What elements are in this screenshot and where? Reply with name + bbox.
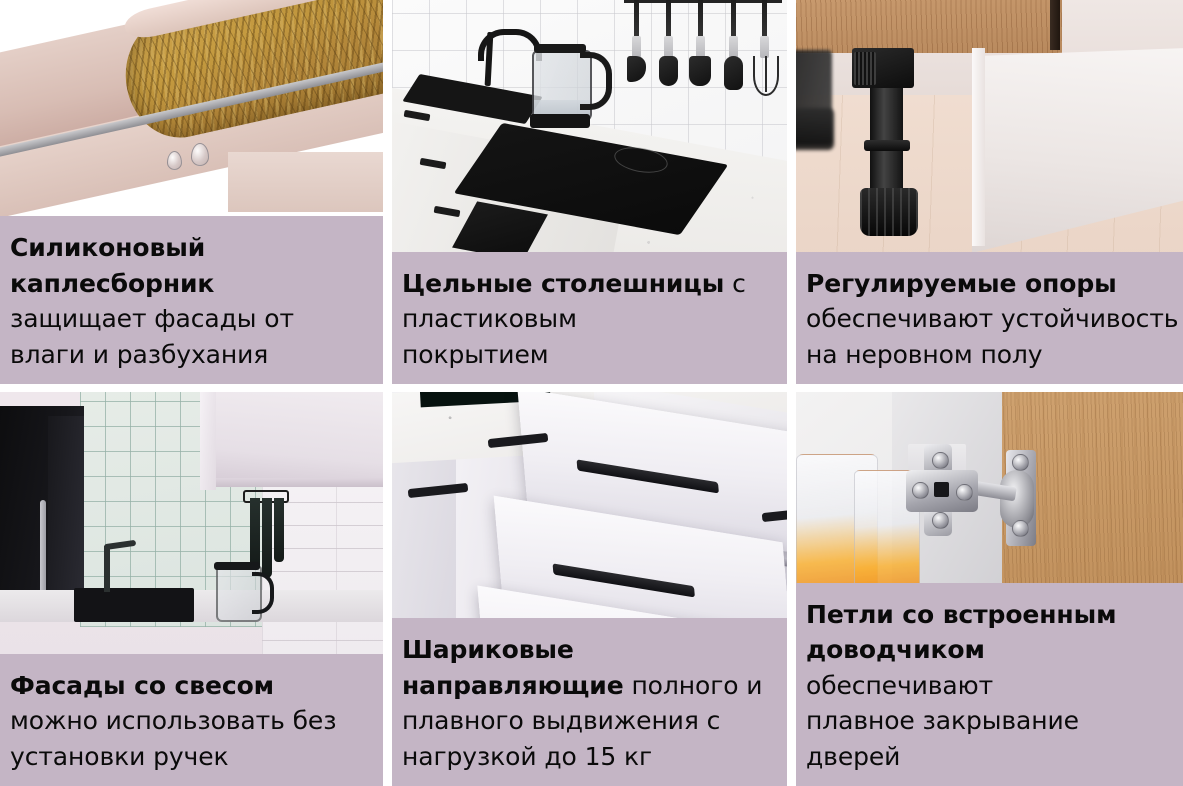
feature-card-solid-countertops: Цельные столешницы с пластиковым покрыти…: [392, 0, 787, 384]
caption-silicone-drip-catcher: Силиконовый каплесборник защищает фасады…: [0, 216, 383, 384]
drawer-handle-icon[interactable]: [553, 564, 695, 598]
caption-line: нагрузкой до 15 кг: [402, 739, 777, 775]
caption-line-tail: обеспечивают: [806, 671, 993, 700]
caption-line-tail: с: [724, 269, 746, 298]
feature-card-overhang-facades: Фасады со свесом можно использовать без …: [0, 392, 383, 786]
caption-solid-countertops: Цельные столешницы с пластиковым покрыти…: [392, 252, 787, 385]
caption-line-bold: направляющие: [402, 671, 624, 700]
caption-line: пластиковым: [402, 301, 777, 337]
caption-line: обеспечивают устойчивость: [806, 301, 1179, 337]
water-drop-icon: [167, 151, 182, 170]
utensil-icon: [250, 498, 260, 570]
feature-card-silicone-drip-catcher: Силиконовый каплесборник защищает фасады…: [0, 0, 383, 384]
utensil-icon: [274, 498, 284, 562]
caption-line-bold: Шариковые: [402, 635, 574, 664]
caption-line: плавное закрывание дверей: [806, 703, 1179, 774]
caption-line-tail: полного и: [624, 671, 763, 700]
caption-line: можно использовать без: [10, 703, 373, 739]
caption-line-bold: Фасады со свесом: [10, 671, 274, 700]
water-drop-icon: [191, 143, 209, 166]
caption-line: защищает фасады от: [10, 301, 373, 337]
caption-line-bold: Регулируемые опоры: [806, 269, 1117, 298]
caption-line-bold: доводчиком: [806, 635, 985, 664]
caption-line: установки ручек: [10, 739, 373, 775]
leveling-foot-icon: [860, 188, 918, 236]
feature-card-ball-bearing-slides: Шариковые направляющие полного и плавног…: [392, 392, 787, 786]
utensil-icon: [262, 498, 272, 578]
caption-line-bold: каплесборник: [10, 269, 214, 298]
caption-line: на неровном полу: [806, 337, 1179, 373]
caption-ball-bearing-slides: Шариковые направляющие полного и плавног…: [392, 618, 787, 786]
caption-line-bold: Цельные столешницы: [402, 269, 724, 298]
caption-line: влаги и разбухания: [10, 337, 373, 373]
caption-line: покрытием: [402, 337, 777, 373]
caption-line: плавного выдвижения с: [402, 703, 777, 739]
drawer-handle-icon[interactable]: [577, 460, 719, 494]
caption-adjustable-legs: Регулируемые опоры обеспечивают устойчив…: [796, 252, 1183, 385]
feature-card-soft-close-hinges: Петли со встроенным доводчиком обеспечив…: [796, 392, 1183, 786]
caption-line-bold: Силиконовый: [10, 233, 205, 262]
caption-line-bold: Петли со встроенным: [806, 600, 1116, 629]
features-grid: Силиконовый каплесборник защищает фасады…: [0, 0, 1183, 786]
feature-card-adjustable-legs: Регулируемые опоры обеспечивают устойчив…: [796, 0, 1183, 384]
caption-soft-close-hinges: Петли со встроенным доводчиком обеспечив…: [796, 583, 1183, 786]
caption-overhang-facades: Фасады со свесом можно использовать без …: [0, 654, 383, 786]
